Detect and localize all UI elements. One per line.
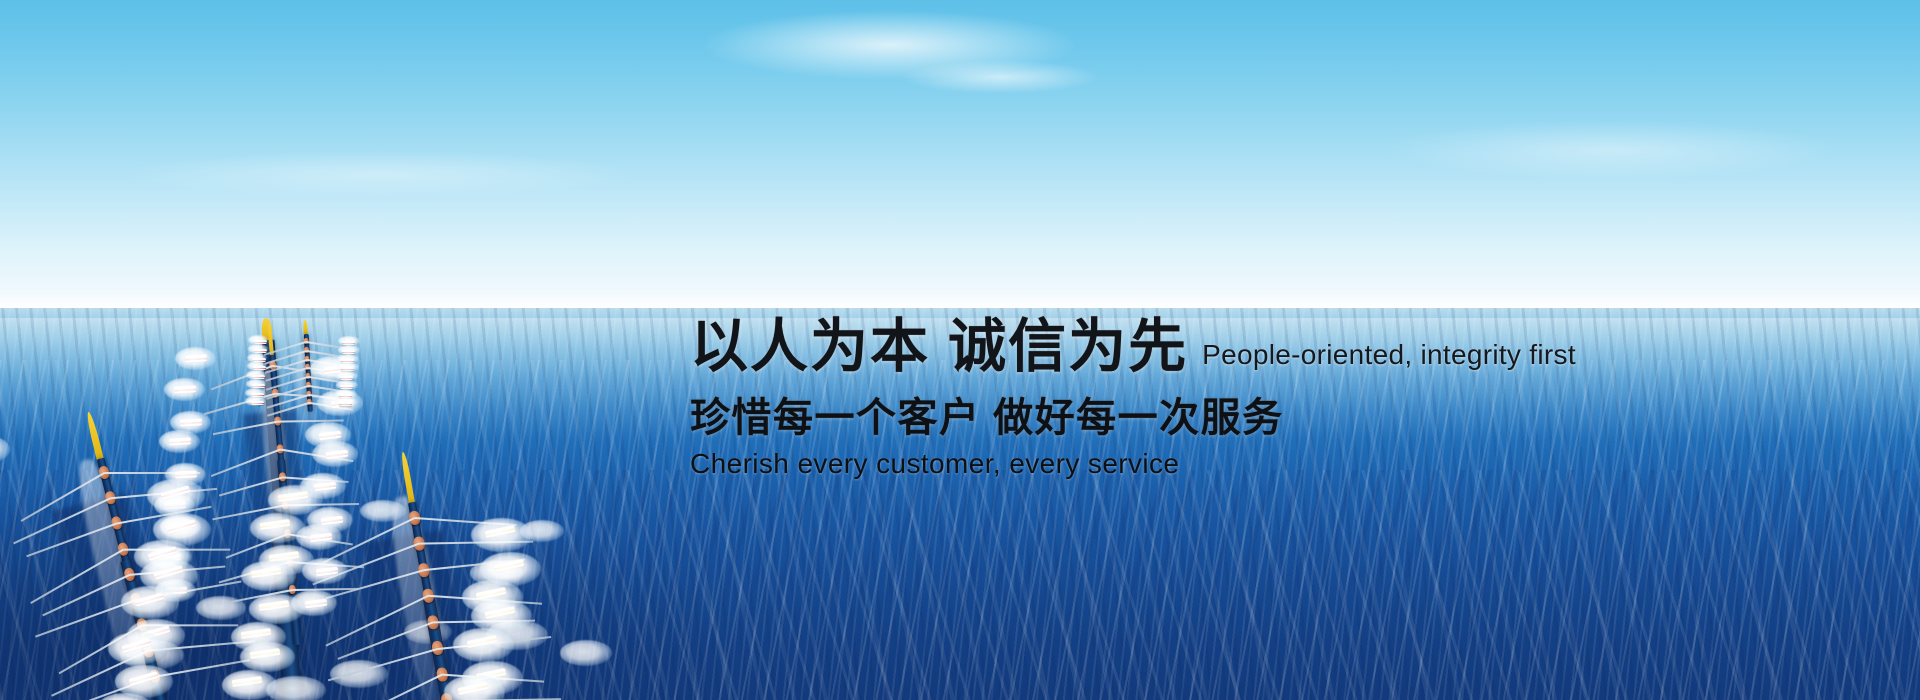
water-splash: [453, 628, 514, 662]
water-splash: [249, 594, 304, 624]
water-splash: [268, 485, 323, 515]
sky-background: [0, 0, 1920, 312]
hero-banner: 以人为本 诚信为先 People-oriented, integrity fir…: [0, 0, 1920, 700]
slogan-cn: 珍惜每一个客户 做好每一次服务: [690, 398, 1880, 438]
water-splash: [147, 479, 205, 512]
water-splash: [164, 378, 205, 401]
headline-subtitle-en: People-oriented, integrity first: [1202, 339, 1576, 376]
water-splash: [471, 518, 532, 552]
water-splash: [241, 561, 296, 591]
water-splash: [312, 441, 358, 467]
slogan-text-block: 以人为本 诚信为先 People-oriented, integrity fir…: [690, 318, 1880, 478]
slogan-en: Cherish every customer, every service: [690, 450, 1880, 478]
water-splash: [159, 430, 200, 453]
page-title: 以人为本 诚信为先: [690, 318, 1188, 376]
water-foam: [560, 640, 612, 666]
water-splash: [222, 670, 277, 700]
water-splash: [175, 347, 216, 370]
water-splash: [250, 513, 305, 543]
water-splash: [121, 586, 179, 619]
headline-row: 以人为本 诚信为先 People-oriented, integrity fir…: [690, 318, 1880, 376]
water-splash: [108, 632, 166, 665]
